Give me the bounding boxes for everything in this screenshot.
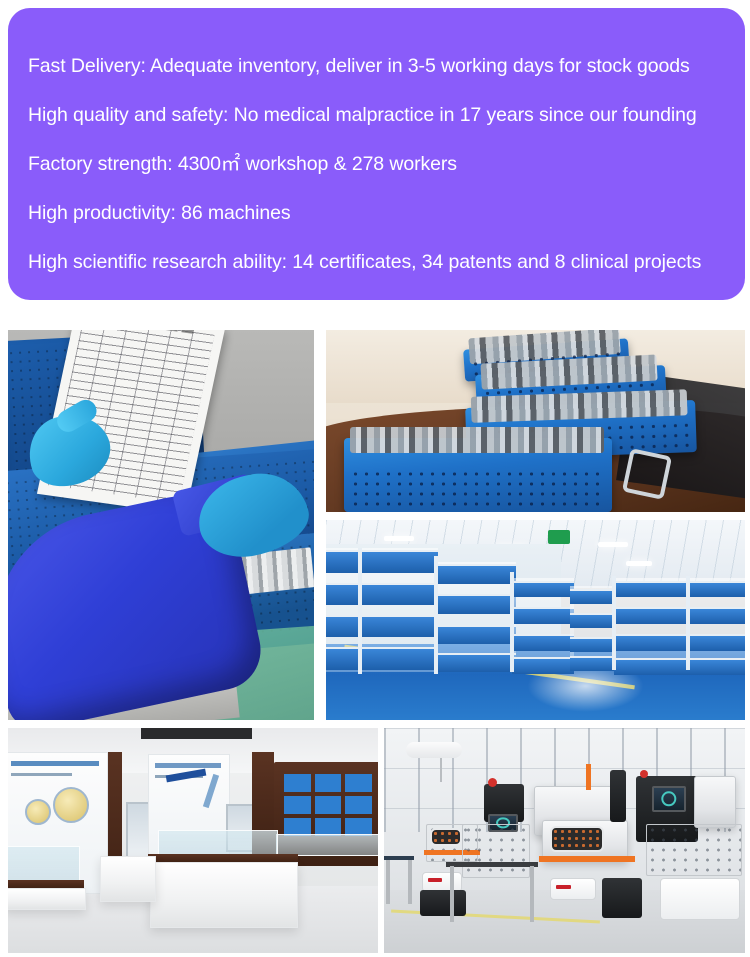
machine-3-side-cabinet	[694, 776, 736, 828]
ceiling-lamp	[384, 536, 414, 541]
counter-center	[150, 862, 298, 928]
photo-warehouse	[326, 520, 745, 720]
instrument-cases-scene	[326, 330, 745, 512]
photo-qc-inspection	[8, 330, 314, 720]
storage-rack	[512, 578, 574, 670]
rack-post	[686, 576, 690, 670]
ceiling-recess	[141, 728, 252, 739]
machine-3-tool-board	[646, 824, 742, 876]
machining-workshop-scene	[384, 728, 745, 953]
machine-2-base	[602, 878, 642, 918]
counter-side	[100, 856, 156, 902]
machine-1-base	[420, 890, 466, 916]
display-case-right	[276, 834, 378, 856]
machine-3-control-screen	[652, 786, 686, 812]
rack-post	[358, 548, 362, 674]
machine-1-drawer	[422, 872, 462, 892]
photo-showroom	[8, 728, 378, 953]
photo-machining-workshop	[384, 728, 745, 953]
table-leg	[530, 866, 534, 922]
table-leg	[450, 866, 454, 922]
rack-post	[510, 572, 514, 672]
warning-beacon	[640, 770, 648, 778]
air-conditioner-unit	[406, 742, 462, 758]
machine-2-grill	[550, 826, 604, 852]
photo-gallery	[0, 0, 750, 957]
rack-post	[434, 556, 438, 674]
rack-post	[612, 576, 616, 670]
case-latch-handle	[622, 448, 672, 500]
storage-rack	[570, 586, 614, 666]
work-table-top	[446, 862, 538, 867]
counter-left	[8, 888, 86, 910]
table-leg	[408, 860, 412, 904]
warehouse-scene	[326, 520, 745, 720]
photo-instrument-cases	[326, 330, 745, 512]
machine-3-indicator	[586, 764, 591, 790]
brand-logo	[428, 878, 442, 882]
page-root: Fast Delivery: Adequate inventory, deliv…	[0, 0, 750, 957]
showroom-scene	[8, 728, 378, 953]
machine-2-orange-stripe	[539, 856, 635, 862]
warning-beacon	[488, 778, 497, 787]
machine-1-grill	[430, 828, 462, 846]
ceiling-lamp	[598, 542, 628, 547]
display-panel-grid	[284, 774, 372, 836]
table-leg	[386, 860, 390, 904]
machine-3-column	[610, 770, 626, 822]
machine-3-cabinet-base	[660, 878, 740, 920]
brand-logo	[556, 885, 571, 889]
qc-inspection-scene	[8, 330, 314, 720]
support-rod	[440, 758, 442, 782]
ceiling-lamp	[626, 561, 652, 566]
storage-rack	[614, 578, 745, 670]
exit-sign	[548, 530, 570, 544]
storage-rack	[436, 562, 516, 670]
storage-rack	[326, 548, 438, 672]
machine-1-tool-board	[462, 824, 530, 878]
machine-2-drawer	[550, 878, 596, 900]
instrument-case-1	[344, 438, 612, 512]
